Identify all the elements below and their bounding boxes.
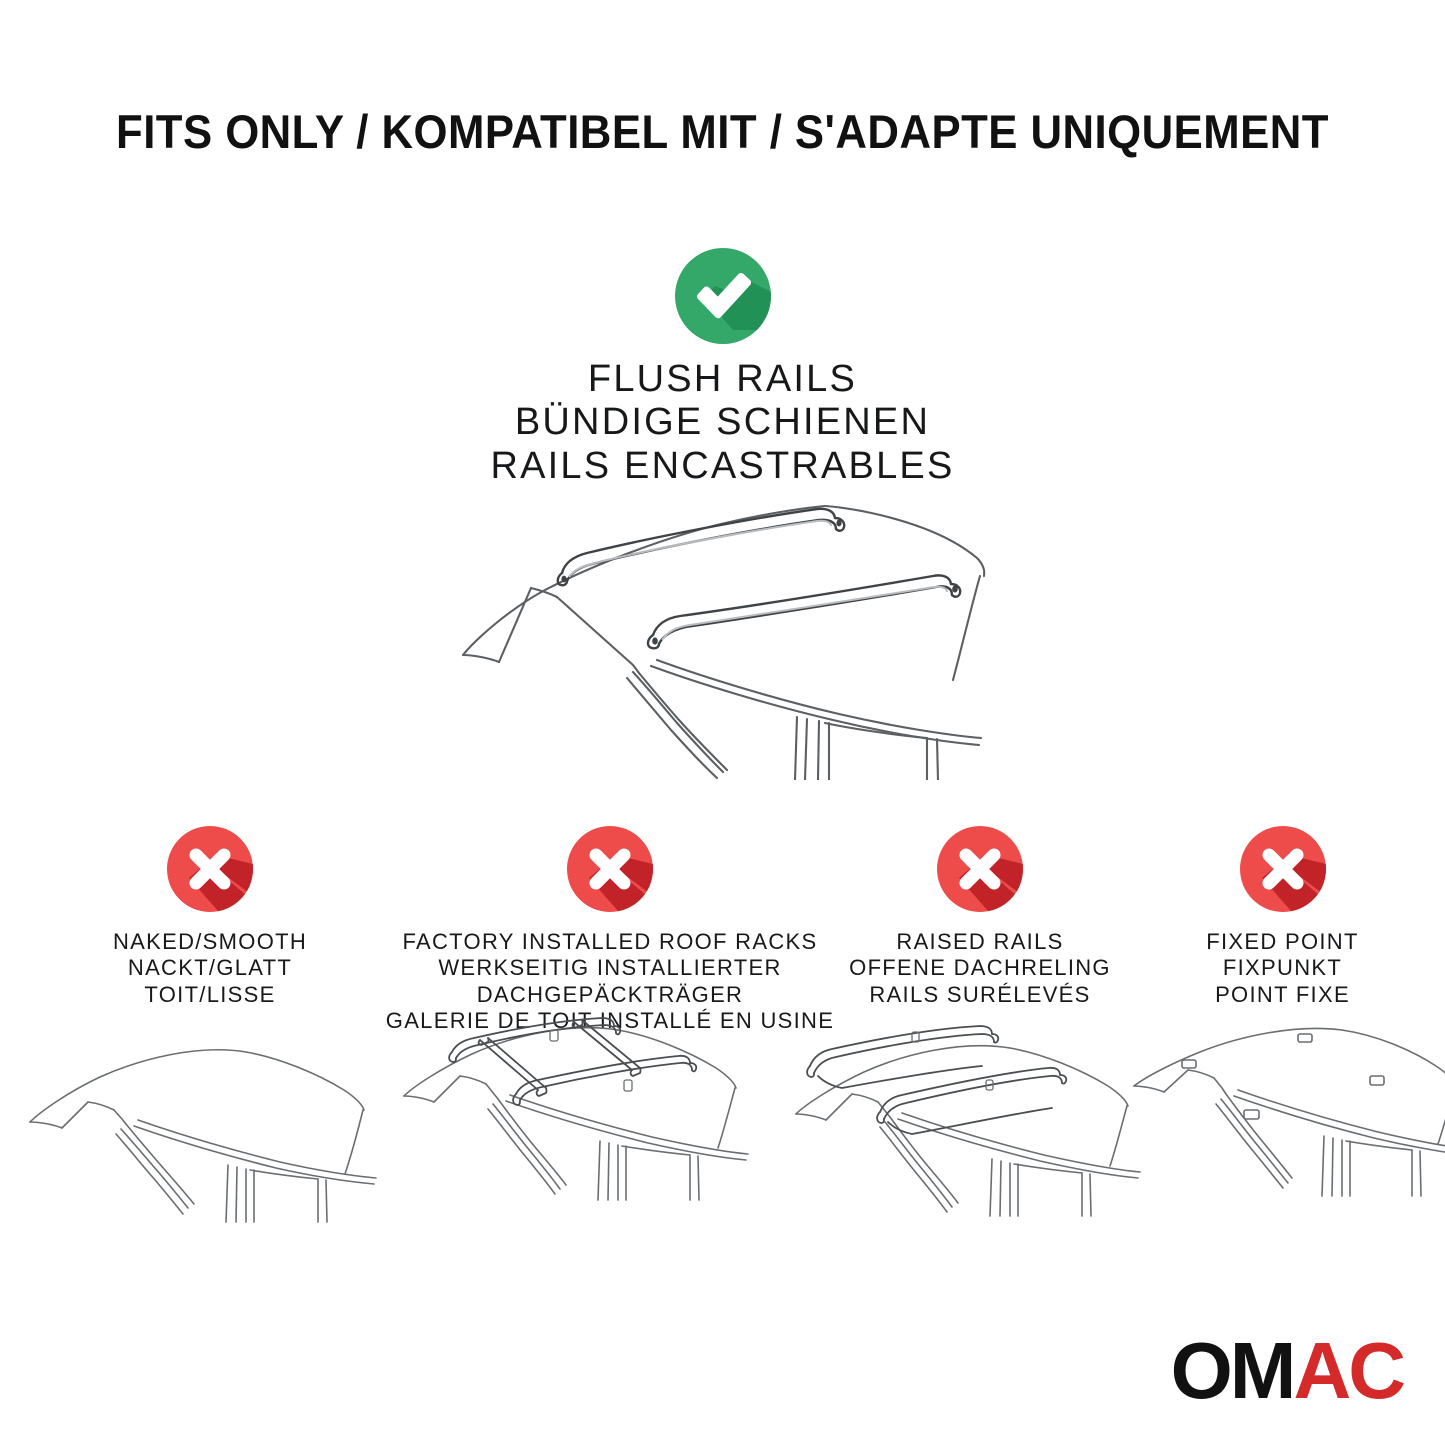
incompatible-col-naked-smooth: NAKED/SMOOTH NACKT/GLATT TOIT/LISSE: [20, 826, 400, 1008]
compatible-label-de: BÜNDIGE SCHIENEN: [490, 401, 954, 444]
x-mark-glyph: [567, 826, 653, 912]
incompatible-row: NAKED/SMOOTH NACKT/GLATT TOIT/LISSE FACT…: [20, 826, 1425, 1035]
label-de-2: DACHGEPÄCKTRÄGER: [386, 982, 834, 1008]
compatible-labels: FLUSH RAILS BÜNDIGE SCHIENEN RAILS ENCAS…: [490, 358, 954, 488]
label-de: OFFENE DACHRELING: [849, 955, 1111, 981]
car-roof-flush-rails-illustration: [453, 480, 993, 780]
car-roof-fixed-point-illustration: [1130, 1018, 1445, 1233]
car-roof-factory-racks-illustration: [398, 1008, 758, 1223]
page-title: FITS ONLY / KOMPATIBEL MIT / S'ADAPTE UN…: [51, 104, 1395, 159]
label-fr: POINT FIXE: [1206, 982, 1358, 1008]
x-mark-glyph: [937, 826, 1023, 912]
x-circle-icon: [1240, 826, 1326, 912]
label-fr: RAILS SURÉLEVÉS: [849, 982, 1111, 1008]
incompatible-col-fixed-point: FIXED POINT FIXPUNKT POINT FIXE: [1140, 826, 1425, 1008]
car-roof-raised-rails-illustration: [790, 1018, 1150, 1233]
x-circle-icon: [567, 826, 653, 912]
car-roof-naked-smooth-illustration: [22, 1022, 382, 1237]
brand-logo-ac: AC: [1293, 1331, 1403, 1411]
label-de-1: WERKSEITIG INSTALLIERTER: [386, 955, 834, 981]
label-en: RAISED RAILS: [849, 929, 1111, 955]
brand-logo-om: OM: [1171, 1331, 1294, 1411]
incompatible-col-factory-racks: FACTORY INSTALLED ROOF RACKS WERKSEITIG …: [400, 826, 820, 1035]
check-circle-icon: [675, 248, 771, 344]
incompatible-labels-naked-smooth: NAKED/SMOOTH NACKT/GLATT TOIT/LISSE: [113, 929, 307, 1008]
label-de: NACKT/GLATT: [113, 955, 307, 981]
x-circle-icon: [937, 826, 1023, 912]
incompatible-labels-raised-rails: RAISED RAILS OFFENE DACHRELING RAILS SUR…: [849, 929, 1111, 1008]
label-en: NAKED/SMOOTH: [113, 929, 307, 955]
check-mark-glyph: [675, 248, 771, 344]
x-mark-glyph: [167, 826, 253, 912]
incompatible-labels-fixed-point: FIXED POINT FIXPUNKT POINT FIXE: [1206, 929, 1358, 1008]
brand-logo: OM AC: [1171, 1331, 1403, 1411]
flush-rail-end-cap-near: [652, 585, 958, 644]
compatible-block: FLUSH RAILS BÜNDIGE SCHIENEN RAILS ENCAS…: [0, 248, 1445, 488]
incompatible-col-raised-rails: RAISED RAILS OFFENE DACHRELING RAILS SUR…: [820, 826, 1140, 1008]
label-de: FIXPUNKT: [1206, 955, 1358, 981]
label-fr: TOIT/LISSE: [113, 982, 307, 1008]
x-circle-icon: [167, 826, 253, 912]
label-en: FIXED POINT: [1206, 929, 1358, 955]
label-en: FACTORY INSTALLED ROOF RACKS: [386, 929, 834, 955]
x-mark-glyph: [1240, 826, 1326, 912]
compatible-label-en: FLUSH RAILS: [490, 358, 954, 401]
